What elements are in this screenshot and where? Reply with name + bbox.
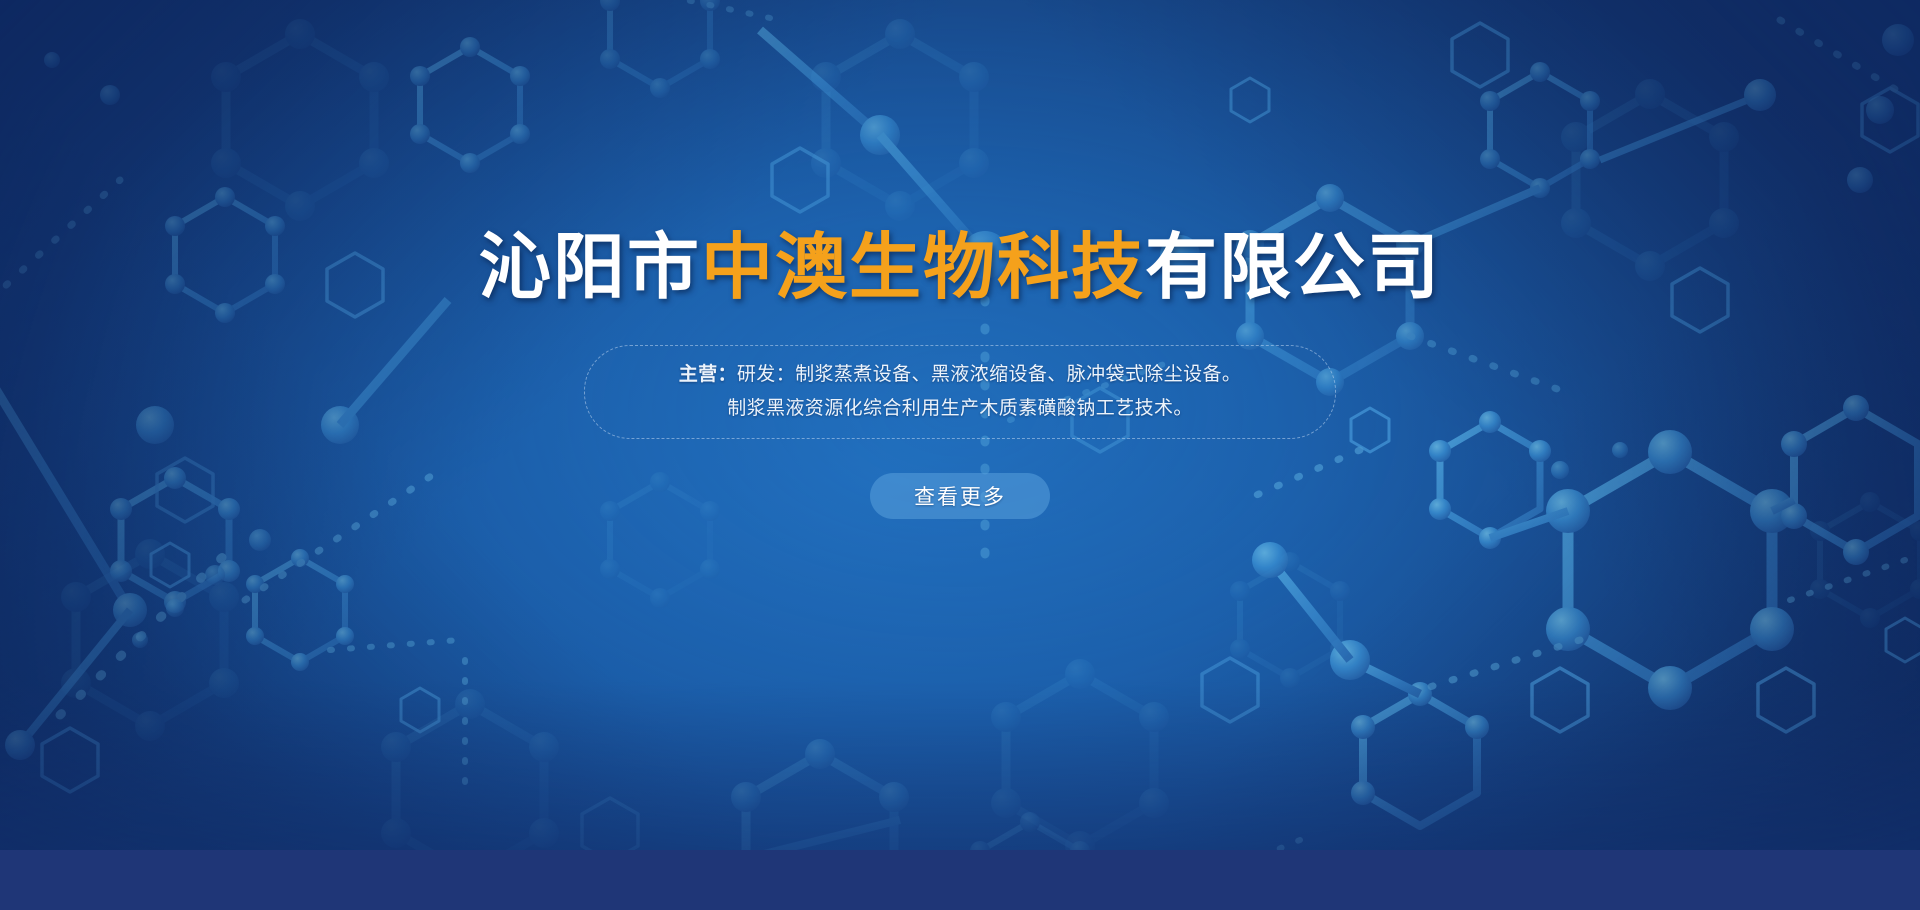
tagline-box: 主营：研发：制浆蒸煮设备、黑液浓缩设备、脉冲袋式除尘设备。 制浆黑液资源化综合利… (584, 345, 1336, 439)
view-more-button[interactable]: 查看更多 (870, 473, 1050, 519)
company-title-accent: 中澳生物科技 (701, 228, 1145, 308)
tagline-label: 主营： (679, 364, 737, 385)
company-title-prefix: 沁阳市 (479, 228, 701, 308)
hero-banner: 沁阳市中澳生物科技有限公司 主营：研发：制浆蒸煮设备、黑液浓缩设备、脉冲袋式除尘… (0, 0, 1920, 910)
tagline-line-1: 主营：研发：制浆蒸煮设备、黑液浓缩设备、脉冲袋式除尘设备。 (679, 358, 1242, 392)
tagline-line-1-text: 研发：制浆蒸煮设备、黑液浓缩设备、脉冲袋式除尘设备。 (737, 364, 1241, 385)
company-title-suffix: 有限公司 (1145, 228, 1441, 308)
hero-content: 沁阳市中澳生物科技有限公司 主营：研发：制浆蒸煮设备、黑液浓缩设备、脉冲袋式除尘… (0, 0, 1920, 910)
page-title: 沁阳市中澳生物科技有限公司 (479, 232, 1441, 304)
tagline-line-2: 制浆黑液资源化综合利用生产木质素磺酸钠工艺技术。 (727, 392, 1193, 426)
bottom-bar (0, 850, 1920, 910)
